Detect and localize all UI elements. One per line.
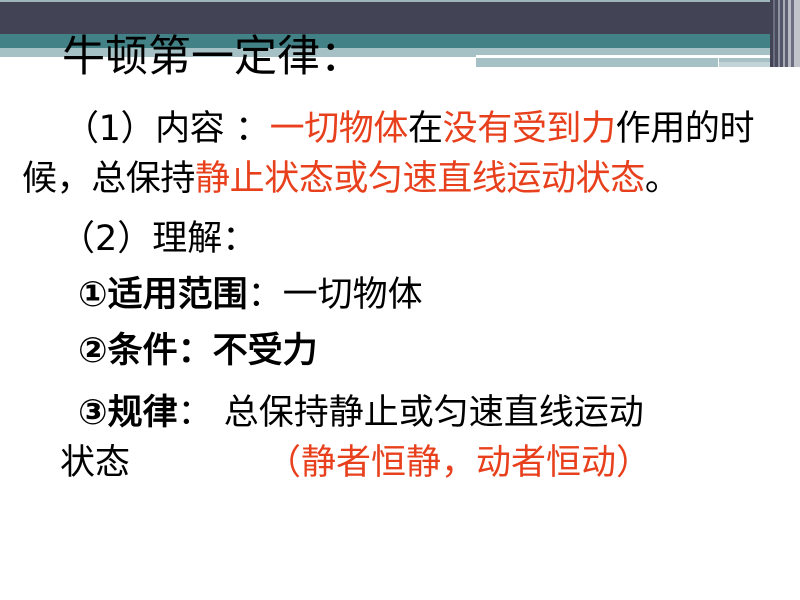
content-red-rest-or-uniform-motion: 静止状态或匀速直线运动状态 (195, 159, 645, 199)
content-red-all-objects: 一切物体 (270, 109, 408, 149)
slide-title: 牛顿第一定律： (62, 33, 363, 81)
aphorism-text: （静者恒静，动者恒动） (266, 438, 651, 488)
banner-dark-band (0, 2, 800, 34)
item-3-wrap-text: 状态 (60, 438, 130, 488)
content-red-no-force: 没有受到力 (443, 109, 616, 149)
item-3-text: ： 总保持静止或匀速直线运动 (178, 393, 644, 433)
item-1-marker: ①适用范围 (78, 275, 248, 315)
content-paragraph: （1）内容 ：一切物体在没有受到力作用的时候，总保持静止状态或匀速直线运动状态。 (0, 104, 800, 204)
content-black-at: 在 (408, 109, 443, 149)
item-3-marker: ③规律 (78, 393, 178, 433)
banner-stripe-9 (794, 0, 800, 67)
item-2-marker: ②条件：不受力 (78, 331, 318, 371)
content-label: （1）内容 ： (64, 109, 270, 149)
banner-light-band-right (476, 48, 800, 55)
understanding-item-law: ③规律： 总保持静止或匀速直线运动 (0, 388, 800, 438)
slide-body: （1）内容 ：一切物体在没有受到力作用的时候，总保持静止状态或匀速直线运动状态。… (0, 104, 800, 490)
content-black-period: 。 (645, 159, 680, 199)
understanding-item-condition: ②条件：不受力 (0, 326, 800, 376)
understanding-heading: （2）理解： (0, 214, 800, 264)
understanding-item-scope: ①适用范围：一切物体 (0, 270, 800, 320)
understanding-item-law-wrap: 状态 （静者恒静，动者恒动） (0, 438, 800, 490)
item-1-text: ：一切物体 (248, 275, 423, 315)
